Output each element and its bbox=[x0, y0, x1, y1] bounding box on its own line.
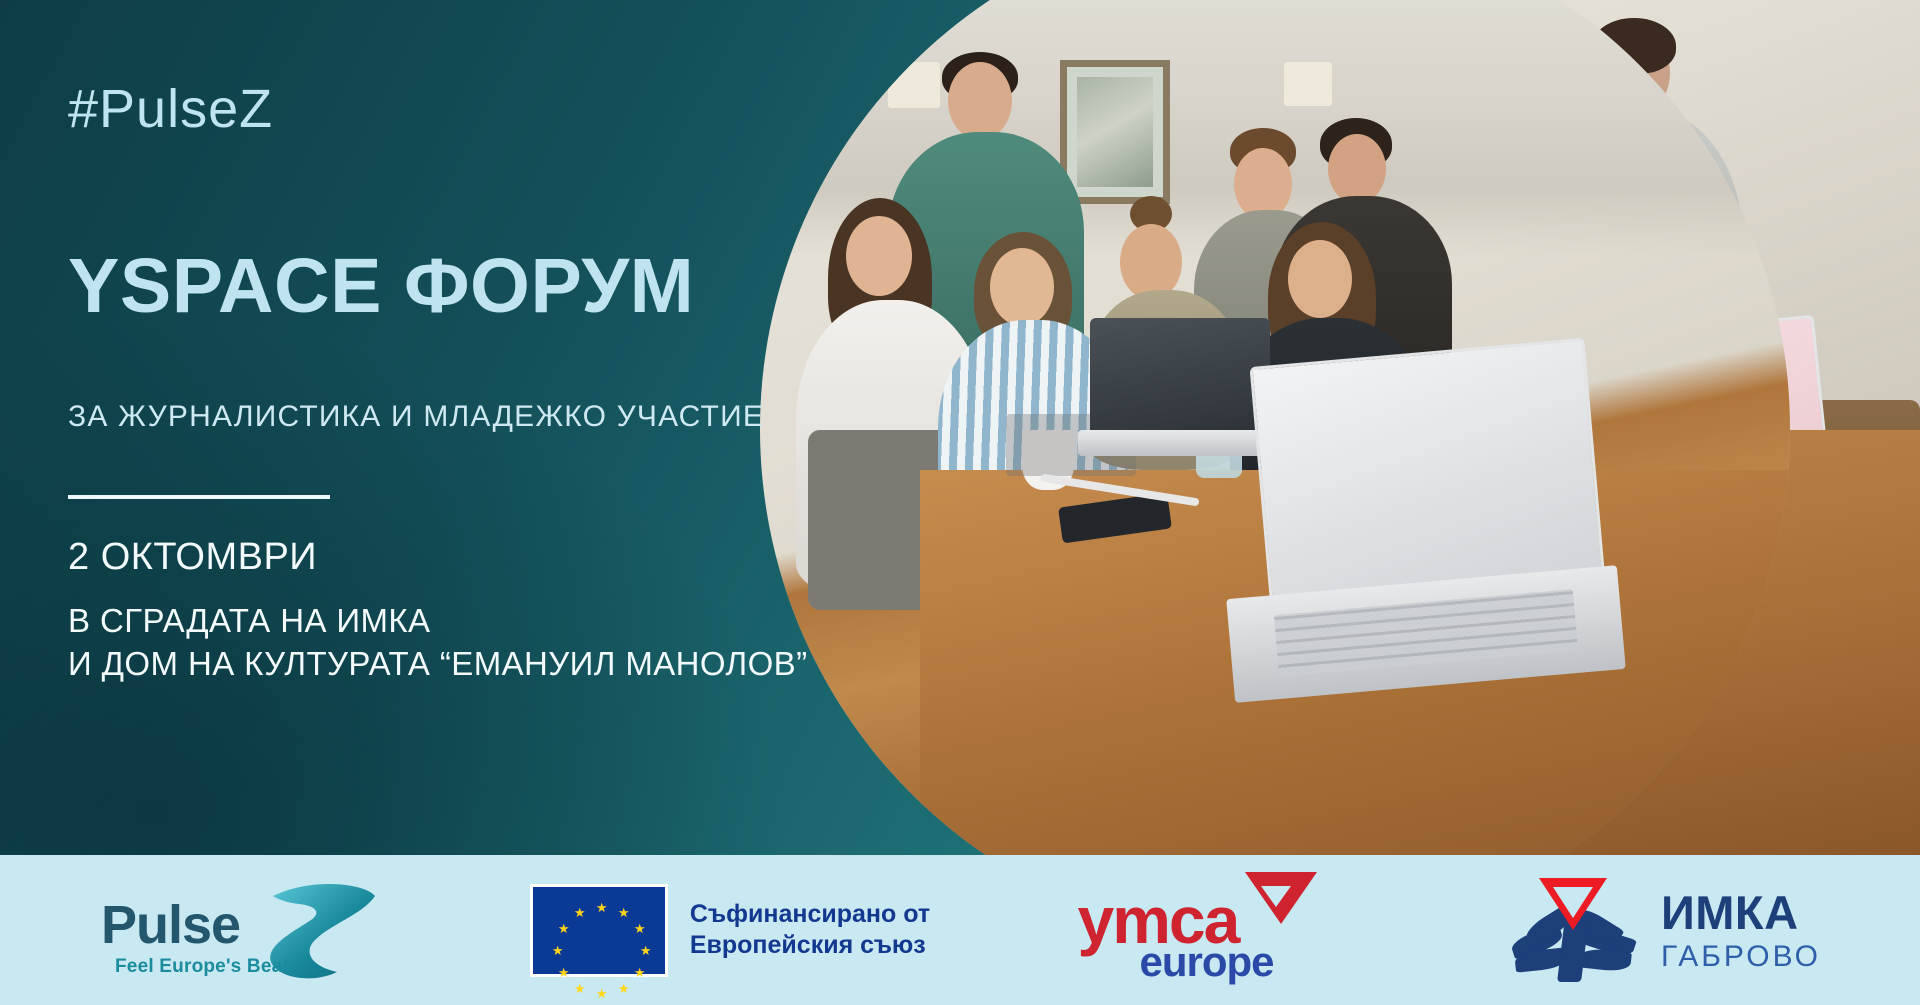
eu-flag-icon: ★ ★ ★ ★ ★ ★ ★ ★ ★ ★ ★ ★ bbox=[530, 884, 668, 977]
imka-text-block: ИМКА ГАБРОВО bbox=[1661, 889, 1821, 972]
framed-picture bbox=[1060, 60, 1170, 204]
eu-cofunding-text: Съфинансирано от Европейския съюз bbox=[690, 899, 930, 962]
venue-line-2: И ДОМ НА КУЛТУРАТА “ЕМАНУИЛ МАНОЛОВ” bbox=[68, 643, 807, 686]
hashtag-label: #PulseZ bbox=[68, 78, 273, 140]
event-date: 2 ОКТОМВРИ bbox=[68, 536, 317, 579]
logo-ymca-europe: ymca europe bbox=[980, 855, 1410, 1005]
imka-wordmark: ИМКА bbox=[1661, 889, 1821, 936]
wall-lamp-right bbox=[1284, 62, 1332, 106]
imka-wing bbox=[1578, 947, 1632, 972]
person-head bbox=[1328, 134, 1386, 204]
event-venue: В СГРАДАТА НА ИМКА И ДОМ НА КУЛТУРАТА “Е… bbox=[68, 600, 807, 686]
person-head bbox=[1288, 240, 1352, 318]
logo-imka-gabrovo: ИМКА ГАБРОВО bbox=[1410, 855, 1920, 1005]
logo-pulsez: Pulse Feel Europe's Beat bbox=[0, 855, 480, 1005]
photo-circle-image bbox=[760, 0, 1790, 855]
hero-copy: #PulseZ YSPACE ФОРУМ ЗА ЖУРНАЛИСТИКА И М… bbox=[0, 0, 860, 855]
event-photo bbox=[760, 0, 1920, 855]
imka-city-label: ГАБРОВО bbox=[1661, 942, 1821, 972]
eu-text-line-1: Съфинансирано от bbox=[690, 899, 930, 930]
photo-circle-mask bbox=[760, 0, 1790, 855]
person-head bbox=[948, 62, 1012, 140]
imka-emblem-icon bbox=[1509, 876, 1637, 984]
wall-lamp-left bbox=[888, 62, 940, 108]
venue-line-1: В СГРАДАТА НА ИМКА bbox=[68, 600, 807, 643]
pulsez-wordmark: Pulse bbox=[101, 894, 240, 956]
person-head bbox=[990, 248, 1054, 326]
page-subtitle: ЗА ЖУРНАЛИСТИКА И МЛАДЕЖКО УЧАСТИЕ bbox=[68, 400, 764, 434]
footer-logo-bar: Pulse Feel Europe's Beat bbox=[0, 855, 1920, 1005]
imka-triangle-inner-icon bbox=[1553, 887, 1593, 918]
ymca-triangle-inner-icon bbox=[1261, 886, 1291, 907]
person-head bbox=[1120, 224, 1182, 300]
laptop-center-screen bbox=[1090, 318, 1270, 438]
logo-eu-cofunding: ★ ★ ★ ★ ★ ★ ★ ★ ★ ★ ★ ★ Съфинансирано от… bbox=[480, 855, 980, 1005]
divider-rule bbox=[68, 495, 330, 499]
ymca-europe-label: europe bbox=[1140, 938, 1274, 986]
promotional-banner: #PulseZ YSPACE ФОРУМ ЗА ЖУРНАЛИСТИКА И М… bbox=[0, 0, 1920, 1005]
pulsez-tagline: Feel Europe's Beat bbox=[115, 956, 289, 978]
eu-text-line-2: Европейския съюз bbox=[690, 930, 930, 961]
page-title: YSPACE ФОРУМ bbox=[68, 248, 694, 325]
